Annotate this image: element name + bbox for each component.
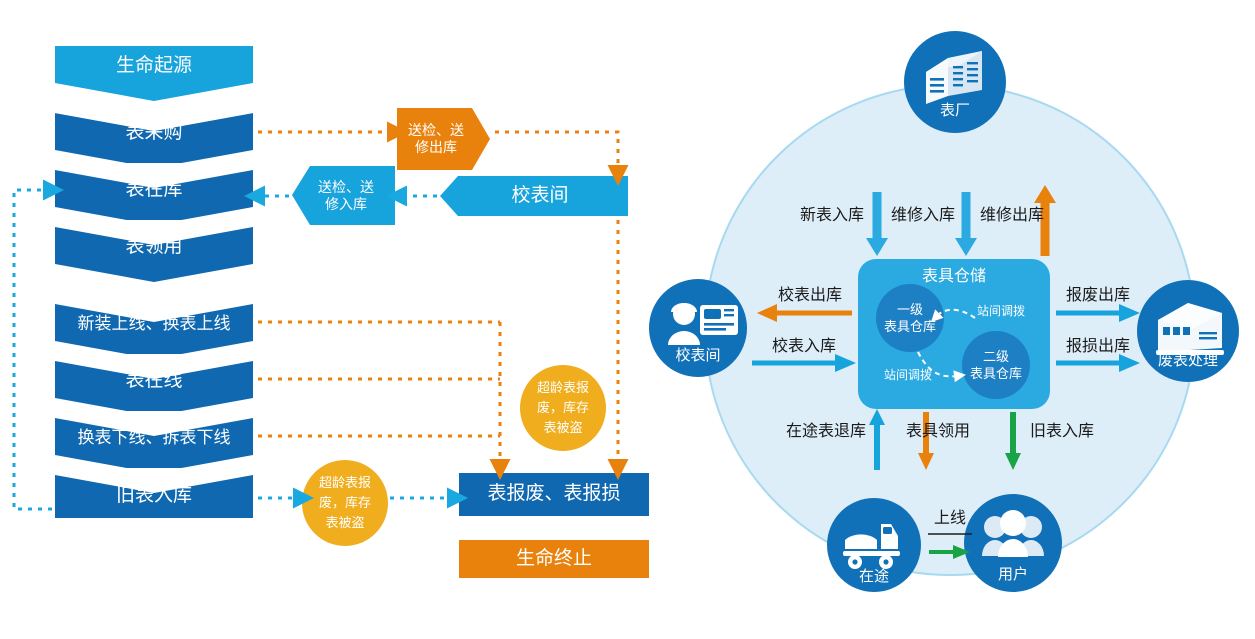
arrow-sendout-to-calibration [495,132,618,168]
diagram-canvas: 生命起源 表采购 表在库 表领用 新装上线、换表上线 表在线 换表下线、拆表下线… [0,0,1255,639]
arrow-return-loop-to-instock [14,190,52,509]
arrows-layer [0,0,1255,639]
